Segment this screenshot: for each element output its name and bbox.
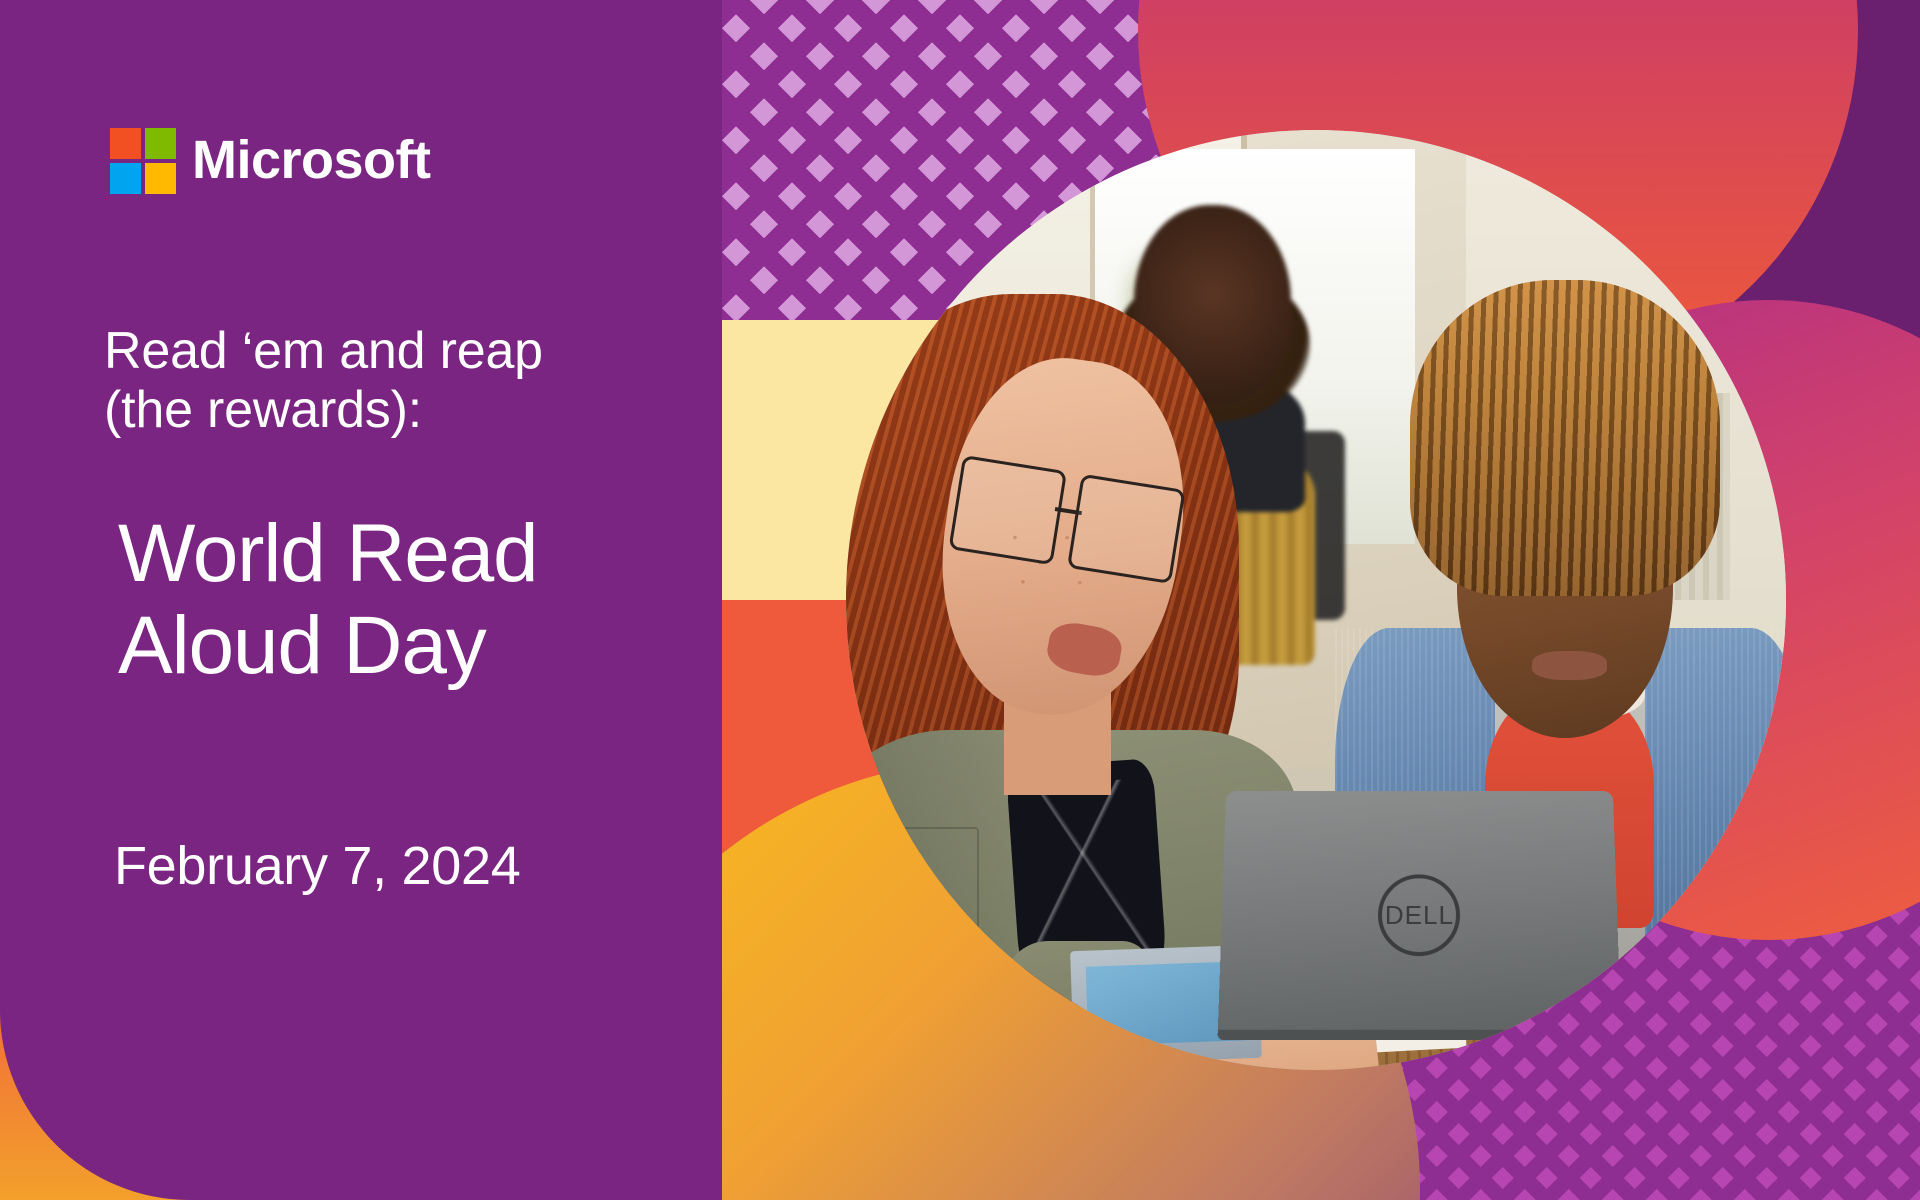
glasses-lens-left bbox=[949, 455, 1067, 565]
kicker-text: Read ‘em and reap (the rewards): bbox=[104, 322, 664, 440]
title-line-1: World Read bbox=[118, 508, 718, 600]
student-lips bbox=[1532, 651, 1607, 679]
logo-blue-square bbox=[110, 163, 141, 194]
logo-red-square bbox=[110, 128, 141, 159]
student-hair-texture bbox=[1410, 280, 1720, 596]
classroom-photo: DELL bbox=[846, 130, 1786, 1070]
student-denim-jacket-right bbox=[1645, 628, 1786, 1023]
logo-yellow-square bbox=[145, 163, 176, 194]
kicker-line-1: Read ‘em and reap bbox=[104, 322, 664, 381]
dell-logo: DELL bbox=[1378, 875, 1461, 957]
microsoft-wordmark: Microsoft bbox=[192, 133, 431, 187]
denim-texture bbox=[1645, 628, 1786, 1023]
page-title: World Read Aloud Day bbox=[118, 508, 718, 692]
laptop-edge bbox=[1217, 1030, 1621, 1040]
promo-graphic: DELL Microsoft Read ‘em and reap (the re… bbox=[0, 0, 1920, 1200]
content-panel: Microsoft Read ‘em and reap (the rewards… bbox=[0, 0, 722, 1200]
teacher-jacket-button bbox=[877, 892, 893, 908]
title-line-2: Aloud Day bbox=[118, 600, 718, 692]
laptop: DELL bbox=[1218, 791, 1621, 1034]
glasses-lens-right bbox=[1067, 473, 1185, 583]
logo-green-square bbox=[145, 128, 176, 159]
kicker-line-2: (the rewards): bbox=[104, 381, 664, 440]
event-date: February 7, 2024 bbox=[114, 835, 520, 897]
microsoft-logo-icon bbox=[110, 128, 176, 194]
photo-scene: DELL bbox=[846, 130, 1786, 1070]
